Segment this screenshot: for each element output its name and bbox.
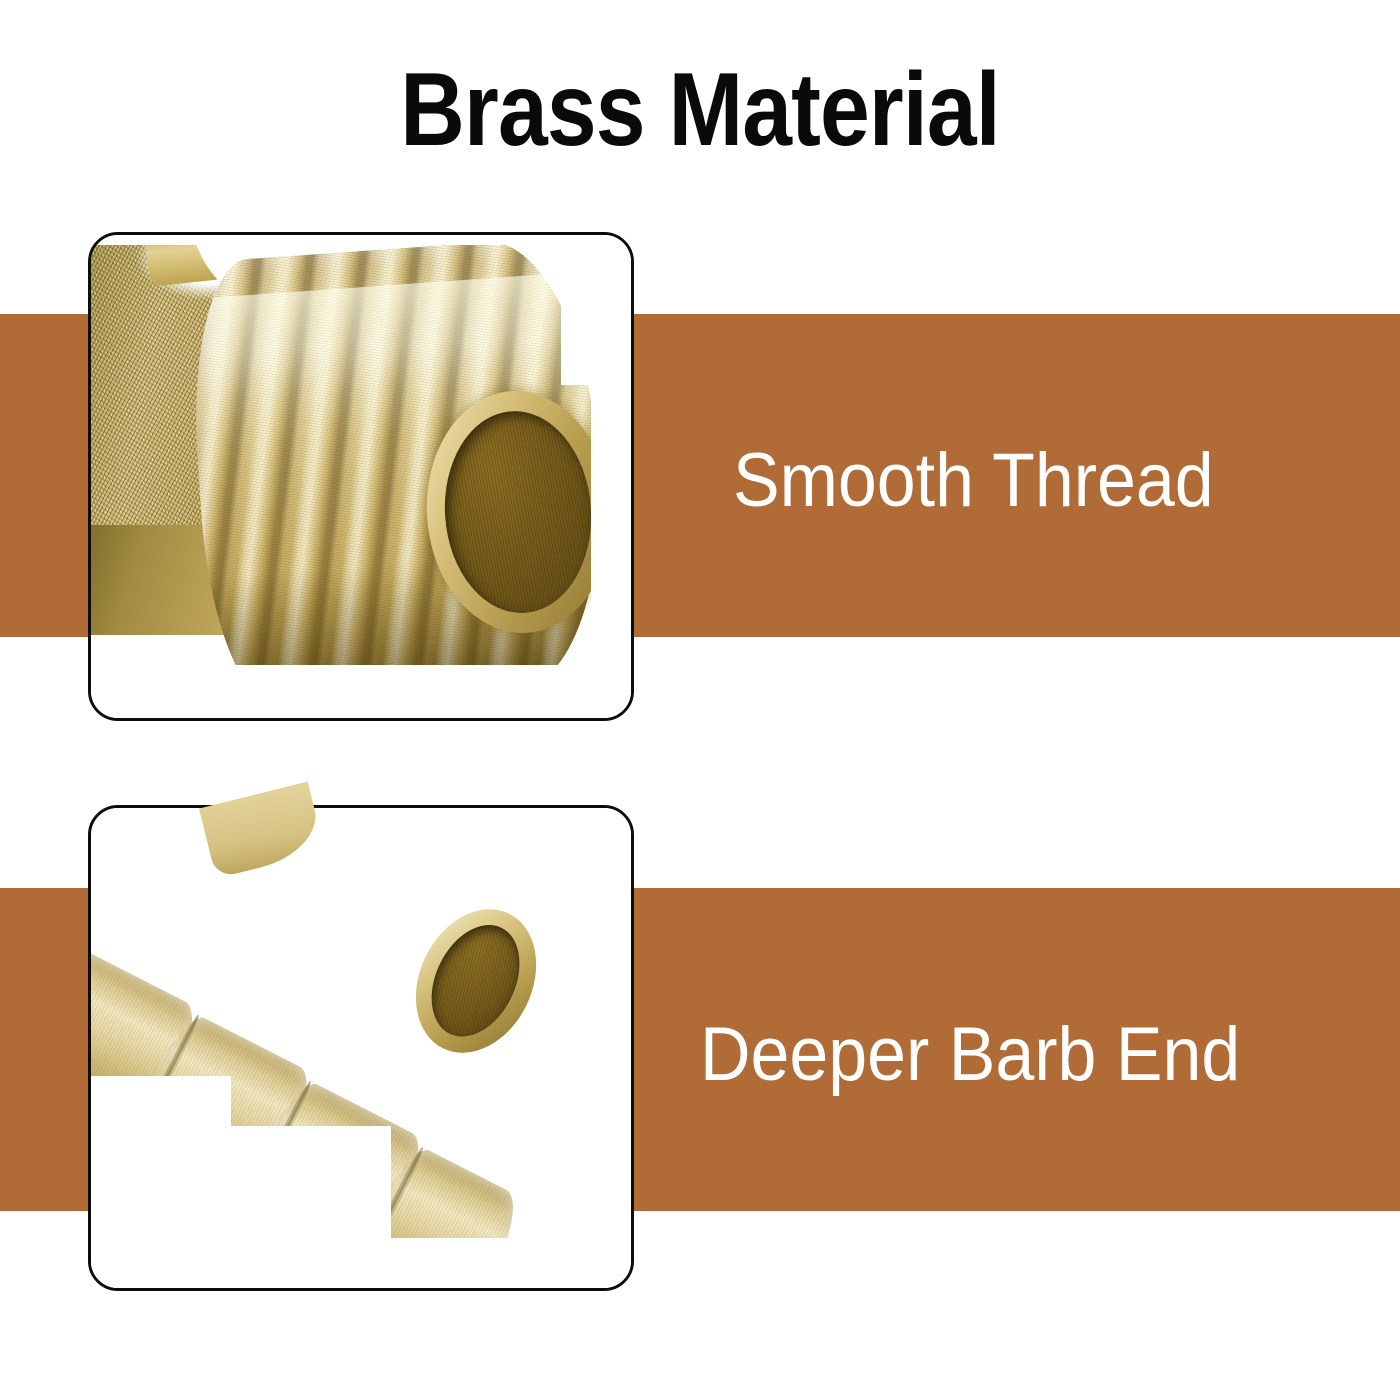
brass-hose-barb-photo xyxy=(91,808,631,1288)
page-title: Brass Material xyxy=(98,58,1302,162)
feature-photo-card-deeper-barb-end xyxy=(88,805,634,1291)
photo-right-mask xyxy=(591,235,631,718)
photo-bottom-mask xyxy=(91,665,631,718)
thread-bore-opening xyxy=(438,406,598,618)
barb-right-top-mask xyxy=(551,808,631,904)
photo-top-mask xyxy=(91,235,631,245)
feature-label-smooth-thread: Smooth Thread xyxy=(733,443,1214,519)
barb-bottom-mask xyxy=(91,1238,631,1288)
feature-label-deeper-barb-end: Deeper Barb End xyxy=(700,1017,1240,1093)
brass-threaded-fitting-photo xyxy=(91,235,631,718)
feature-photo-card-smooth-thread xyxy=(88,232,634,721)
